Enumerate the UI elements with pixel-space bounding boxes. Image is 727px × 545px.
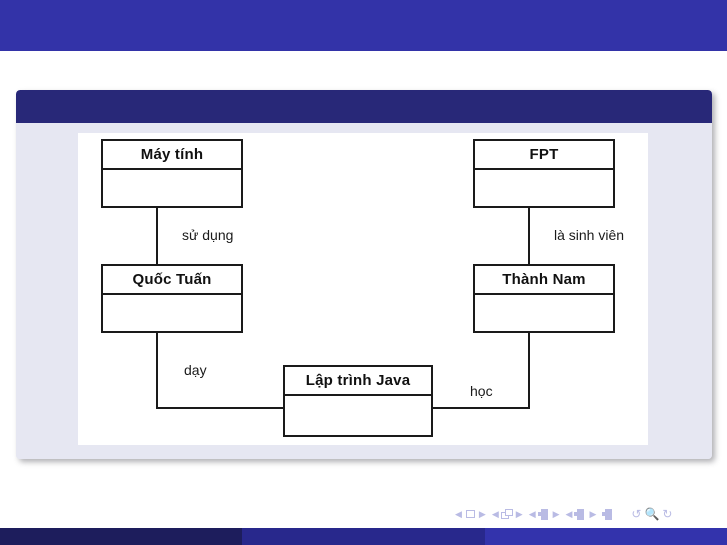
subsection-icon[interactable] — [538, 509, 551, 520]
uml-object-diagram-figure: Máy tính FPT Quốc Tuấn Thành Nam Lập trì… — [78, 133, 648, 445]
footer-segment-left — [0, 528, 242, 545]
object-box-title: FPT — [475, 141, 613, 170]
block-title — [16, 90, 712, 123]
connector-hoc-vertical — [528, 333, 530, 409]
object-box-may-tinh[interactable]: Máy tính — [101, 139, 243, 208]
footer-segment-right — [485, 528, 727, 545]
document-icon[interactable] — [602, 509, 615, 520]
prev-slide-arrow-icon[interactable]: ◀ — [455, 509, 462, 520]
section-icon[interactable] — [574, 509, 587, 520]
back-icon[interactable]: ↺ — [631, 507, 641, 521]
beamer-navigation-bar[interactable]: ◀ ▶ ◀ ▶ ◀ ▶ ◀ ▶ ↺ 🔍 ↻ — [455, 503, 710, 525]
search-icon[interactable]: 🔍 — [644, 507, 659, 521]
forward-icon[interactable]: ↻ — [662, 507, 672, 521]
object-box-title: Lập trình Java — [285, 367, 431, 396]
object-box-title: Quốc Tuấn — [103, 266, 241, 295]
connector-su-dung — [156, 208, 158, 264]
object-box-thanh-nam[interactable]: Thành Nam — [473, 264, 615, 333]
next-frame-arrow-icon[interactable]: ▶ — [516, 509, 523, 520]
connector-hoc-horizontal — [431, 407, 530, 409]
top-white-gap — [0, 51, 727, 90]
next-slide-arrow-icon[interactable]: ▶ — [479, 509, 486, 520]
nav-group-frame[interactable]: ◀ ▶ — [492, 509, 523, 520]
link-label-la-sinh-vien: là sinh viên — [554, 227, 624, 243]
footer-segment-middle — [242, 528, 485, 545]
footer-bar — [0, 528, 727, 545]
prev-frame-arrow-icon[interactable]: ◀ — [492, 509, 499, 520]
connector-la-sinh-vien — [528, 208, 530, 264]
prev-section-arrow-icon[interactable]: ◀ — [566, 509, 573, 520]
nav-group-slide[interactable]: ◀ ▶ — [455, 509, 486, 520]
next-subsection-arrow-icon[interactable]: ▶ — [553, 509, 560, 520]
object-box-fpt[interactable]: FPT — [473, 139, 615, 208]
top-decoration-bar — [0, 0, 727, 51]
object-box-quoc-tuan[interactable]: Quốc Tuấn — [101, 264, 243, 333]
link-label-day: dạy — [184, 362, 207, 378]
connector-day-vertical — [156, 333, 158, 409]
link-label-hoc: học — [470, 383, 493, 399]
object-box-title: Máy tính — [103, 141, 241, 170]
nav-tools[interactable]: ↺ 🔍 ↻ — [631, 507, 672, 521]
link-label-su-dung: sử dụng — [182, 227, 233, 243]
connector-day-horizontal — [156, 407, 286, 409]
prev-subsection-arrow-icon[interactable]: ◀ — [529, 509, 536, 520]
frame-icon[interactable] — [501, 509, 514, 520]
nav-group-document[interactable] — [602, 509, 615, 520]
nav-group-subsection[interactable]: ◀ ▶ — [529, 509, 560, 520]
slide-icon[interactable] — [464, 509, 477, 520]
block-body: Máy tính FPT Quốc Tuấn Thành Nam Lập trì… — [16, 123, 712, 459]
nav-group-section[interactable]: ◀ ▶ — [566, 509, 597, 520]
content-block: Máy tính FPT Quốc Tuấn Thành Nam Lập trì… — [16, 90, 712, 459]
object-box-title: Thành Nam — [475, 266, 613, 295]
object-box-lap-trinh-java[interactable]: Lập trình Java — [283, 365, 433, 437]
next-section-arrow-icon[interactable]: ▶ — [589, 509, 596, 520]
